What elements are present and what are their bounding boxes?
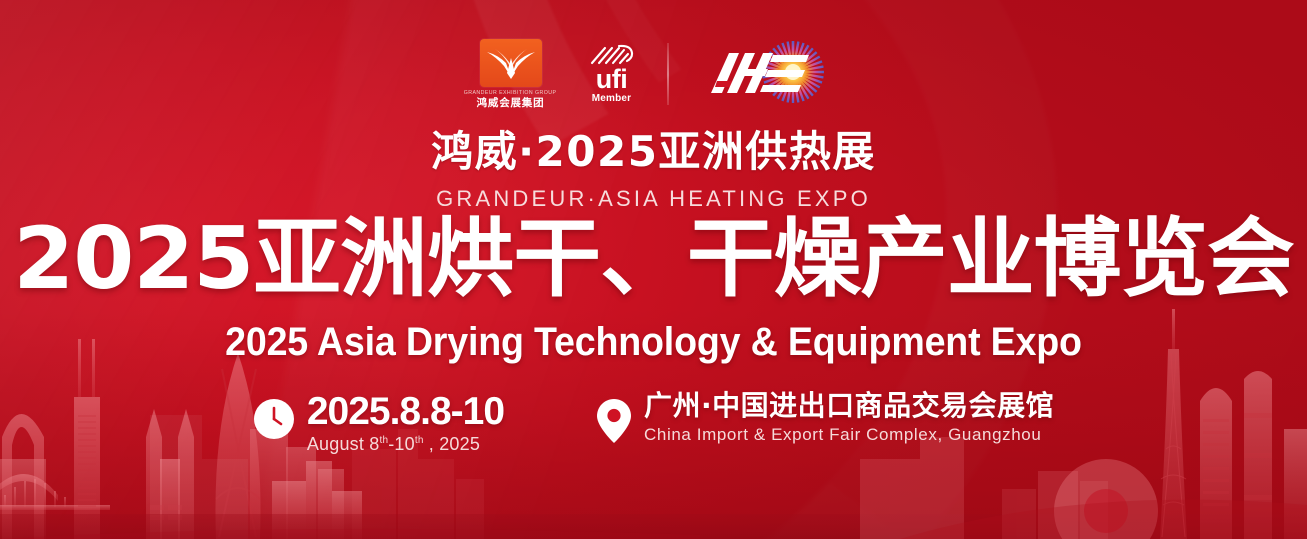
ufi-member-label: Member <box>592 93 632 104</box>
event-date-text: 2025.8.8-10 August 8th-10th , 2025 <box>307 392 504 455</box>
logo-row: GRANDEUR EXHIBITION GROUP 鸿威会展集团 ufi Mem… <box>0 36 1307 112</box>
event-date-sub: August 8th-10th , 2025 <box>307 434 504 455</box>
event-date-block: 2025.8.8-10 August 8th-10th , 2025 <box>253 392 504 455</box>
event-date-main: 2025.8.8-10 <box>307 392 504 432</box>
event-date-sub-suffix: , 2025 <box>424 434 480 454</box>
ufi-wordmark: ufi <box>596 67 628 93</box>
grandeur-logo: GRANDEUR EXHIBITION GROUP 鸿威会展集团 <box>469 39 553 108</box>
ahe-logo <box>689 41 839 107</box>
ufi-swoosh-icon <box>589 44 635 66</box>
logo-divider <box>667 43 669 105</box>
event-venue-main: 广州·中国进出口商品交易会展馆 <box>644 392 1054 421</box>
event-date-sub-prefix: August 8 <box>307 434 380 454</box>
event-info-row: 2025.8.8-10 August 8th-10th , 2025 广州·中国… <box>0 392 1307 455</box>
event-venue-block: 广州·中国进出口商品交易会展馆 China Import & Export Fa… <box>596 392 1054 449</box>
location-pin-icon <box>596 398 632 449</box>
event-date-sup-2: th <box>415 435 424 446</box>
event-venue-text: 广州·中国进出口商品交易会展馆 China Import & Export Fa… <box>644 392 1054 445</box>
ahe-sunburst-icon <box>689 41 839 107</box>
event-date-sup-1: th <box>379 435 388 446</box>
event-date-sub-mid: -10 <box>388 434 415 454</box>
grandeur-chinese-caption: 鸿威会展集团 <box>477 97 545 109</box>
ufi-logo: ufi Member <box>575 44 649 105</box>
main-title-chinese: 2025亚洲烘干、干燥产业博览会 <box>0 216 1307 302</box>
grandeur-english-caption: GRANDEUR EXHIBITION GROUP <box>464 90 557 95</box>
sub-title-chinese: 鸿威·2025亚洲供热展 <box>0 130 1307 175</box>
event-banner: GRANDEUR EXHIBITION GROUP 鸿威会展集团 ufi Mem… <box>0 0 1307 539</box>
main-title-english: 2025 Asia Drying Technology & Equipment … <box>39 320 1268 364</box>
event-venue-sub: China Import & Export Fair Complex, Guan… <box>644 425 1054 445</box>
grandeur-w-wing-icon <box>480 39 542 87</box>
clock-icon <box>253 398 295 445</box>
